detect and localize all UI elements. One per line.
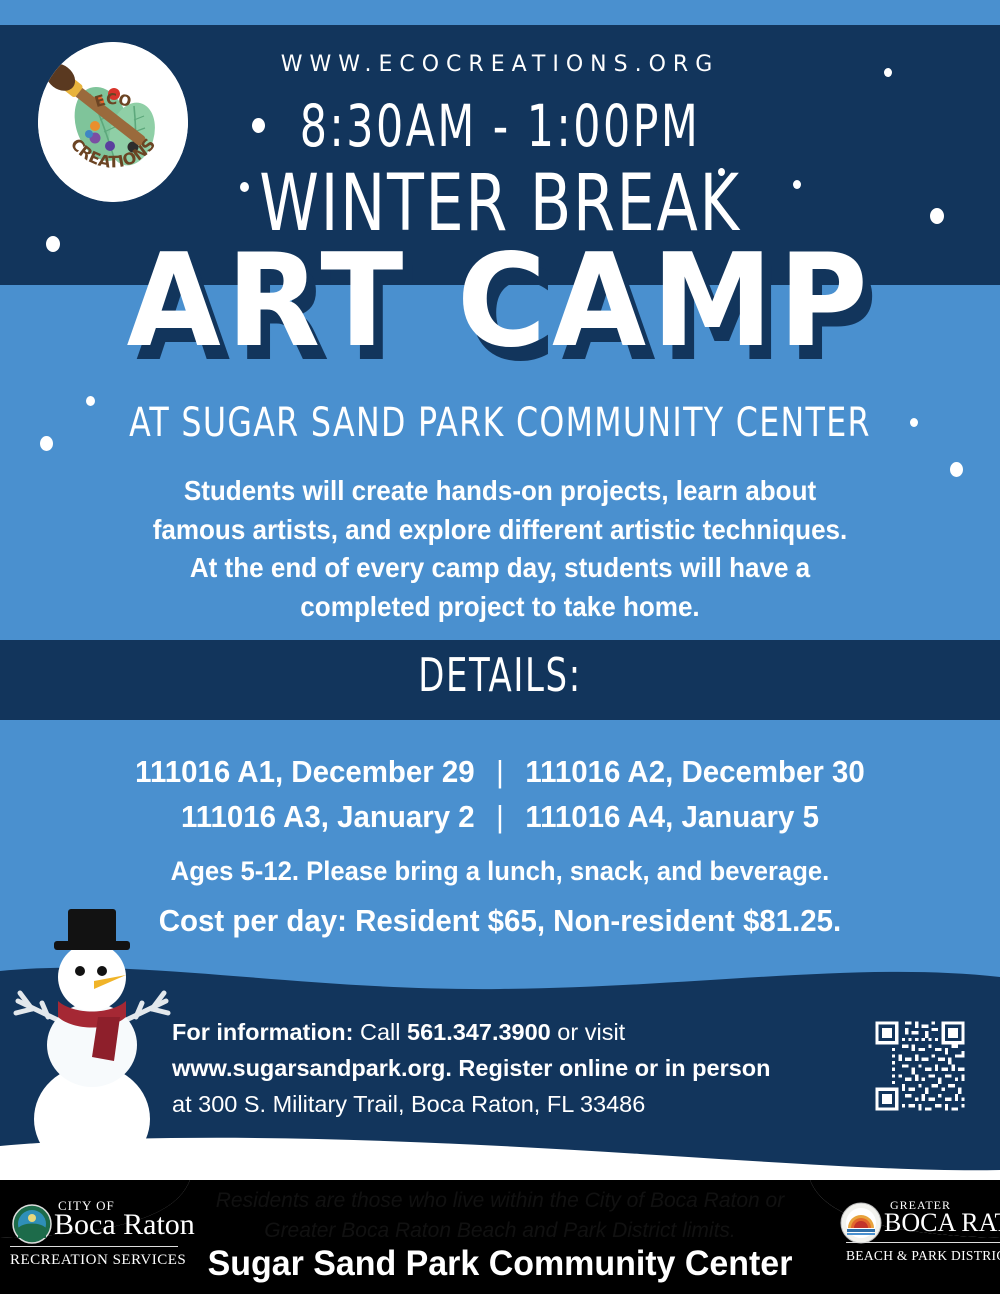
venue-name: Sugar Sand Park Community Center <box>190 1244 811 1284</box>
snow-dot <box>930 208 944 224</box>
intro-line-4: completed project to take home. <box>128 588 872 627</box>
district-logo-line-2: BOCA RATON <box>884 1208 1000 1238</box>
flyer-poster: ECO CREATIONS WWW.ECOCREATIONS.ORG 8:30A… <box>0 0 1000 1294</box>
city-logo-line-2: Boca Raton <box>54 1208 195 1242</box>
city-logo-line-3: RECREATION SERVICES <box>10 1252 186 1269</box>
session-code-right: 111016 A4, January 5 <box>525 799 819 834</box>
qr-code[interactable] <box>872 1018 968 1114</box>
session-row: 111016 A1, December 29 | 111016 A2, Dece… <box>82 750 918 795</box>
session-separator: | <box>483 795 517 840</box>
page-subtitle: AT SUGAR SAND PARK COMMUNITY CENTER <box>60 400 940 446</box>
session-separator: | <box>483 750 517 795</box>
district-logo-divider <box>846 1242 1000 1243</box>
snow-dot <box>40 436 53 451</box>
city-logo-divider <box>10 1246 178 1247</box>
session-list: 111016 A1, December 29 | 111016 A2, Dece… <box>82 750 918 840</box>
intro-line-2: famous artists, and explore different ar… <box>128 511 872 550</box>
eco-creations-url: WWW.ECOCREATIONS.ORG <box>0 52 1000 77</box>
greater-boca-raton-district-logo: GREATER BOCA RATON BEACH & PARK DISTRICT <box>828 1196 1000 1288</box>
snowman-illustration <box>2 905 192 1180</box>
district-seal-icon <box>840 1202 882 1244</box>
info-label: For information: <box>172 1019 353 1045</box>
info-call-word: Call <box>360 1019 400 1045</box>
intro-line-3: At the end of every camp day, students w… <box>128 549 872 588</box>
contact-info: For information: Call 561.347.3900 or vi… <box>172 1015 792 1123</box>
residents-note-line-2: Greater Boca Raton Beach and Park Distri… <box>180 1216 820 1246</box>
camp-time: 8:30AM - 1:00PM <box>90 92 910 160</box>
page-title: ART CAMP <box>25 238 975 366</box>
info-or-visit: or visit <box>557 1019 625 1045</box>
residents-note-line-1: Residents are those who live within the … <box>180 1186 820 1216</box>
top-light-strip <box>0 0 1000 25</box>
district-logo-line-3: BEACH & PARK DISTRICT <box>846 1248 1000 1264</box>
info-address: 300 S. Military Trail, Boca Raton, FL 33… <box>198 1091 645 1117</box>
intro-line-1: Students will create hands-on projects, … <box>128 472 872 511</box>
session-code-left: 111016 A3, January 2 <box>181 799 475 834</box>
cost-note: Cost per day: Resident $65, Non-resident… <box>82 903 918 939</box>
session-row: 111016 A3, January 2 | 111016 A4, Januar… <box>82 795 918 840</box>
details-heading: DETAILS: <box>90 648 910 702</box>
info-address-lead: at <box>172 1091 192 1117</box>
info-website[interactable]: www.sugarsandpark.org. Register online o… <box>172 1055 771 1081</box>
session-code-right: 111016 A2, December 30 <box>525 754 864 789</box>
ages-note: Ages 5-12. Please bring a lunch, snack, … <box>82 856 918 887</box>
city-seal-icon <box>12 1204 52 1244</box>
session-code-left: 111016 A1, December 29 <box>135 754 474 789</box>
intro-paragraph: Students will create hands-on projects, … <box>128 472 872 627</box>
info-phone[interactable]: 561.347.3900 <box>407 1019 551 1045</box>
city-of-boca-raton-logo: CITY OF Boca Raton RECREATION SERVICES <box>4 1196 184 1288</box>
residents-note: Residents are those who live within the … <box>180 1186 820 1246</box>
snow-dot <box>950 462 963 477</box>
